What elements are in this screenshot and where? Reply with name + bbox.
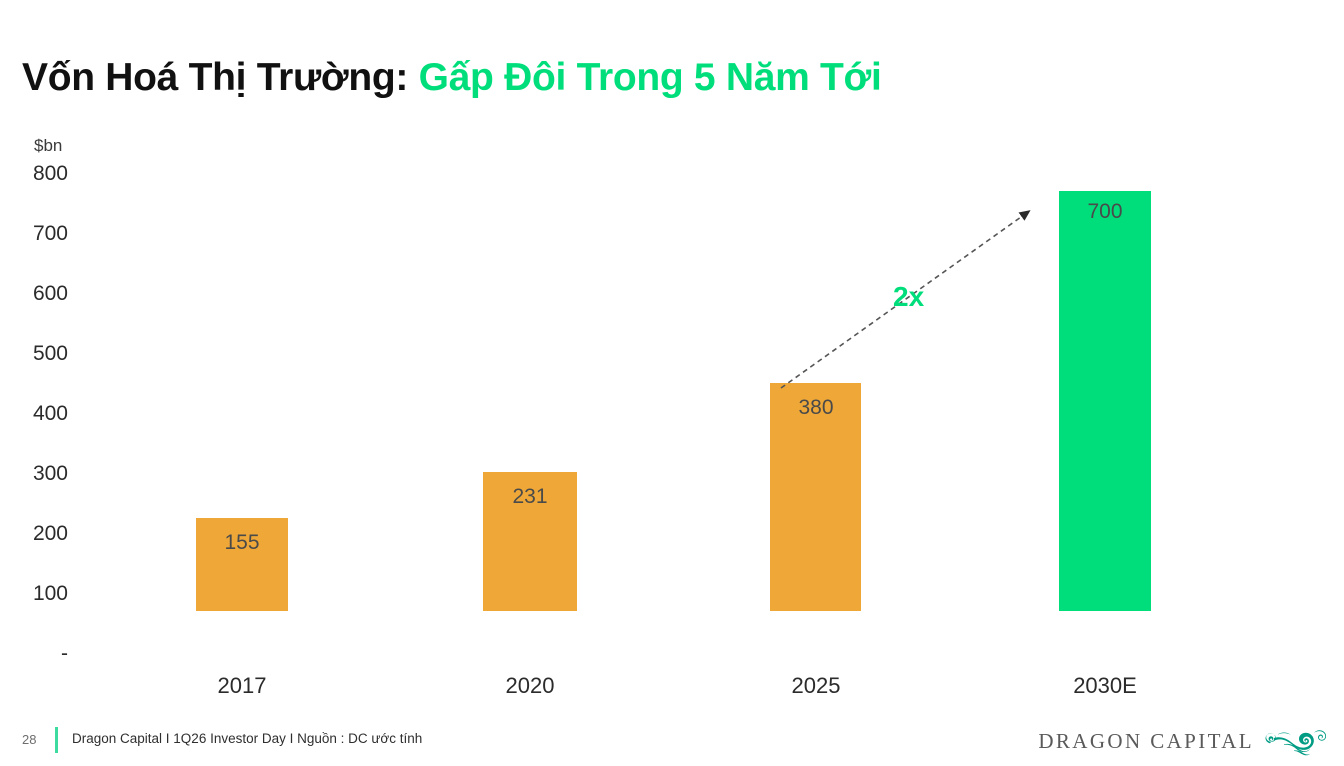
- dragon-icon: [1264, 724, 1326, 758]
- bar-value-2030e: 700: [1087, 200, 1122, 224]
- page-number: 28: [22, 732, 36, 747]
- footer: 28 Dragon Capital I 1Q26 Investor Day I …: [0, 720, 1344, 766]
- y-axis-unit-label: $bn: [34, 136, 62, 156]
- bar-chart: $bn 800 700 600 500 400 300 200 100 - 15…: [0, 0, 1344, 720]
- y-axis-tick-700: 700: [0, 222, 68, 246]
- y-axis-tick-500: 500: [0, 342, 68, 366]
- x-axis-label-2030e: 2030E: [1073, 673, 1137, 699]
- bar-value-2020: 231: [512, 485, 547, 509]
- y-axis-tick-100: 100: [0, 582, 68, 606]
- footer-divider: [55, 727, 58, 753]
- y-axis-tick-200: 200: [0, 522, 68, 546]
- y-axis-tick-400: 400: [0, 402, 68, 426]
- y-axis-tick-300: 300: [0, 462, 68, 486]
- y-axis-tick-600: 600: [0, 282, 68, 306]
- bar-2030e: [1059, 191, 1151, 611]
- logo-wordmark: DRAGON CAPITAL: [1038, 729, 1254, 754]
- footer-source-text: Dragon Capital I 1Q26 Investor Day I Ngu…: [72, 731, 422, 746]
- dragon-capital-logo: DRAGON CAPITAL: [1038, 724, 1326, 758]
- x-axis-label-2017: 2017: [218, 673, 267, 699]
- y-axis-tick-0: -: [0, 642, 68, 666]
- growth-multiple-label: 2x: [893, 281, 924, 313]
- x-axis-label-2020: 2020: [506, 673, 555, 699]
- bar-value-2017: 155: [224, 531, 259, 555]
- bar-value-2025: 380: [798, 396, 833, 420]
- x-axis-label-2025: 2025: [792, 673, 841, 699]
- y-axis-tick-800: 800: [0, 162, 68, 186]
